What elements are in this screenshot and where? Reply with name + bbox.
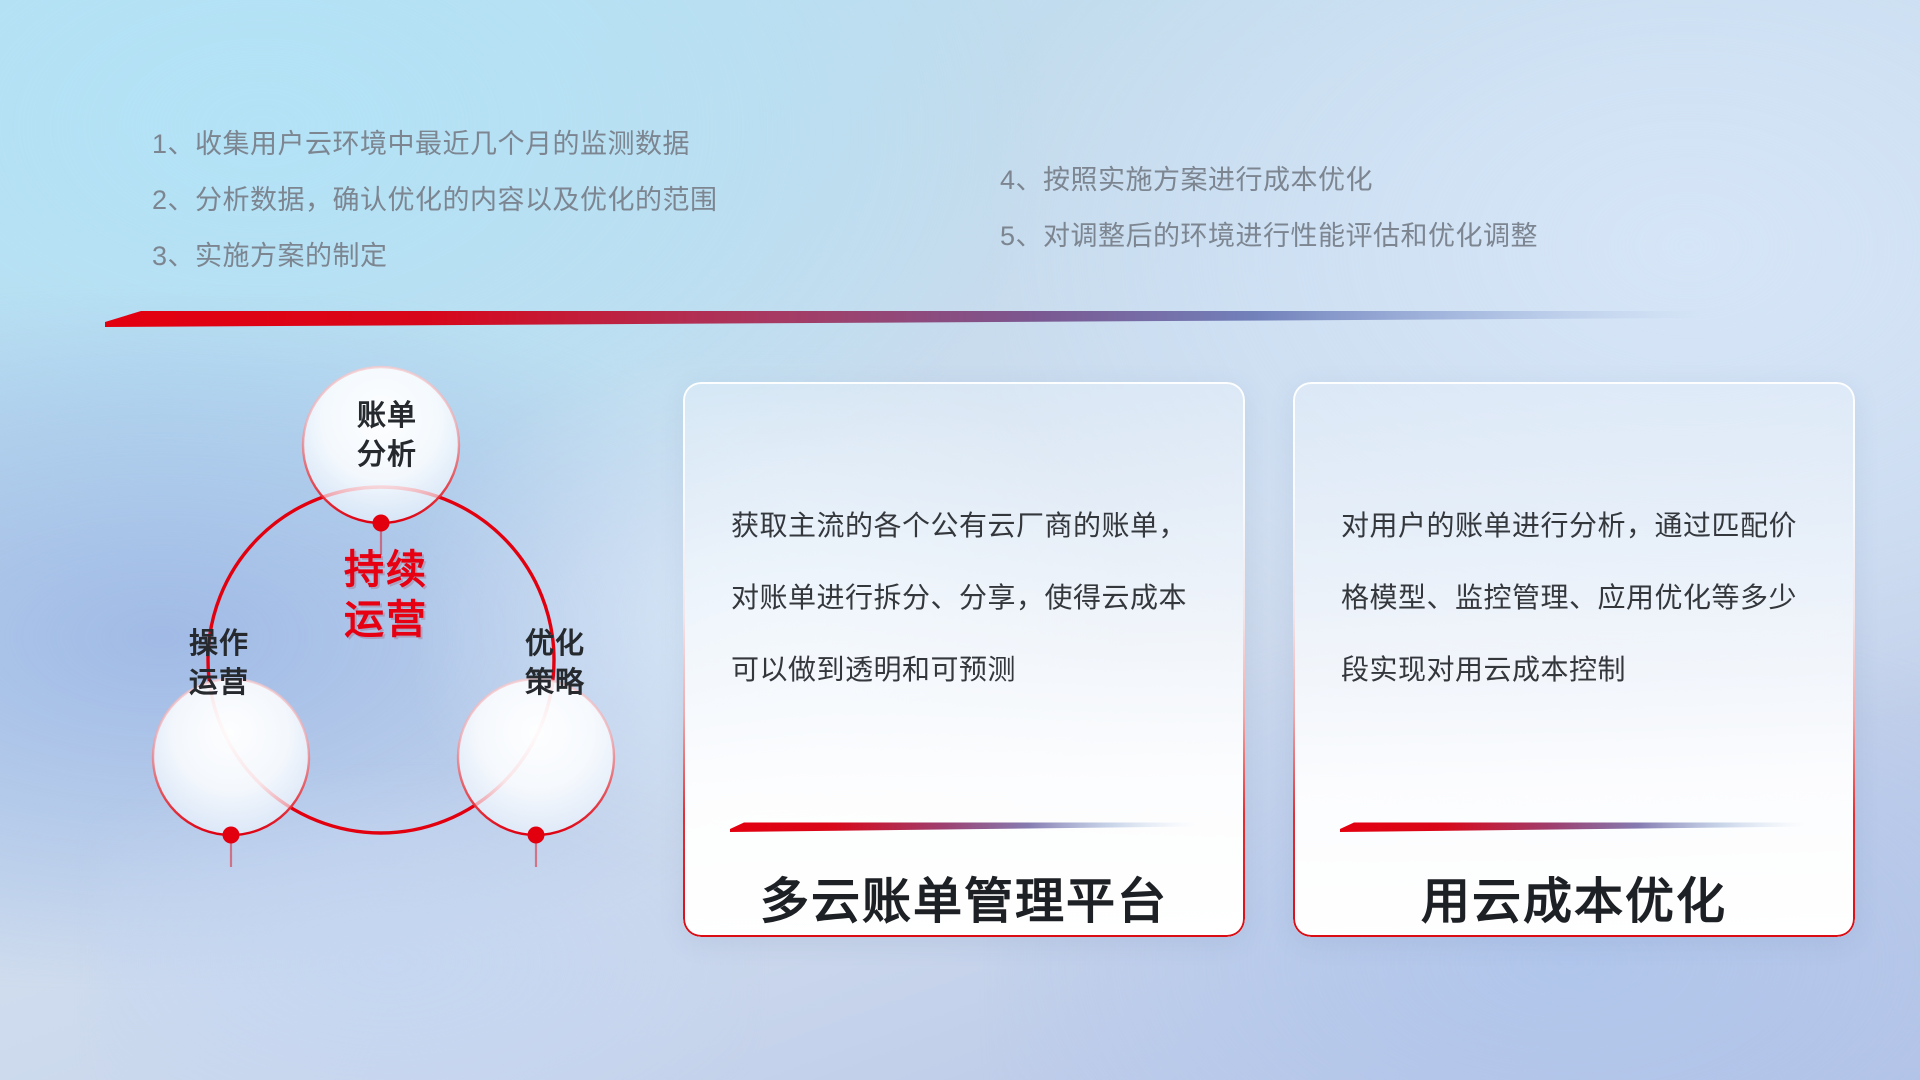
process-steps-left-column: 1、收集用户云环境中最近几个月的监测数据 2、分析数据，确认优化的内容以及优化的… [152,116,718,284]
venn-node-dot-left [223,827,240,844]
card-accent-rule-shape [730,820,1196,832]
card-title: 用云成本优化 [1293,862,1855,933]
card-cloud-cost-optimization[interactable]: 对用户的账单进行分析，通过匹配价格模型、监控管理、应用优化等多少段实现对用云成本… [1293,382,1855,937]
venn-node-dot-top [373,515,390,532]
card-description: 对用户的账单进行分析，通过匹配价格模型、监控管理、应用优化等多少段实现对用云成本… [1341,490,1809,706]
card-multi-cloud-billing-platform[interactable]: 获取主流的各个公有云厂商的账单，对账单进行拆分、分享，使得云成本可以做到透明和可… [683,382,1245,937]
card-accent-rule [730,820,1196,832]
process-step-3: 3、实施方案的制定 [152,228,718,284]
venn-node-label-right: 优化 策略 [460,625,650,703]
venn-node-dot-right [528,827,545,844]
card-description: 获取主流的各个公有云厂商的账单，对账单进行拆分、分享，使得云成本可以做到透明和可… [731,490,1199,706]
section-divider-shape [105,303,1705,329]
continuous-operations-venn-diagram: 持续 运营 账单 分析 操作 运营 优化 策略 [96,350,666,960]
venn-node-label-top: 账单 分析 [292,397,482,475]
process-step-2: 2、分析数据，确认优化的内容以及优化的范围 [152,172,718,228]
process-step-5: 5、对调整后的环境进行性能评估和优化调整 [1000,208,1538,264]
process-step-1: 1、收集用户云环境中最近几个月的监测数据 [152,116,718,172]
process-step-4: 4、按照实施方案进行成本优化 [1000,152,1538,208]
card-accent-rule-shape [1340,820,1806,832]
section-divider [105,303,1705,329]
process-steps-right-column: 4、按照实施方案进行成本优化 5、对调整后的环境进行性能评估和优化调整 [1000,152,1538,264]
card-title: 多云账单管理平台 [683,862,1245,933]
venn-node-label-left: 操作 运营 [124,625,314,703]
process-steps-list: 1、收集用户云环境中最近几个月的监测数据 2、分析数据，确认优化的内容以及优化的… [0,0,1920,300]
card-accent-rule [1340,820,1806,832]
